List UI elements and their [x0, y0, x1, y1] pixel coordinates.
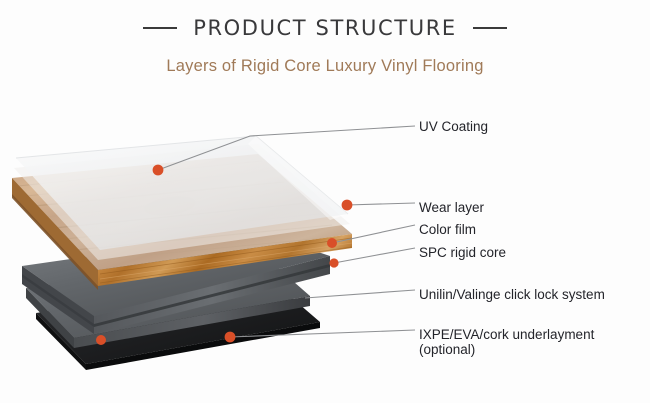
- label-uv-coating: UV Coating: [419, 119, 488, 134]
- label-uv-coating-text: UV Coating: [419, 119, 488, 134]
- header: PRODUCT STRUCTURE Layers of Rigid Core L…: [0, 16, 650, 76]
- title-dash-right-icon: [473, 27, 507, 29]
- label-color-film-text: Color film: [419, 222, 476, 237]
- label-wear-layer: Wear layer: [419, 200, 484, 215]
- product-structure-infographic: PRODUCT STRUCTURE Layers of Rigid Core L…: [0, 0, 650, 403]
- label-color-film: Color film: [419, 222, 476, 237]
- label-click-lock-system-text: Unilin/Valinge click lock system: [419, 287, 605, 302]
- page-subtitle: Layers of Rigid Core Luxury Vinyl Floori…: [0, 57, 650, 76]
- layer-stack-diagram: [0, 98, 650, 403]
- page-title: PRODUCT STRUCTURE: [193, 16, 457, 40]
- label-wear-layer-text: Wear layer: [419, 200, 484, 215]
- label-click-lock-system: Unilin/Valinge click lock system: [419, 287, 605, 302]
- label-spc-rigid-core: SPC rigid core: [419, 245, 506, 260]
- marker-spc-core: [329, 258, 338, 267]
- title-dash-left-icon: [143, 27, 177, 29]
- marker-uv-coating: [153, 165, 164, 176]
- marker-color-film: [327, 238, 337, 248]
- marker-underlayment: [225, 332, 236, 343]
- marker-click-lock: [96, 335, 106, 345]
- marker-wear-layer: [342, 200, 353, 211]
- label-underlayment: IXPE/EVA/cork underlayment (optional): [419, 327, 594, 357]
- label-underlayment-text: IXPE/EVA/cork underlayment: [419, 327, 594, 342]
- title-row: PRODUCT STRUCTURE: [0, 16, 650, 40]
- label-underlayment-note: (optional): [419, 342, 594, 357]
- label-spc-rigid-core-text: SPC rigid core: [419, 245, 506, 260]
